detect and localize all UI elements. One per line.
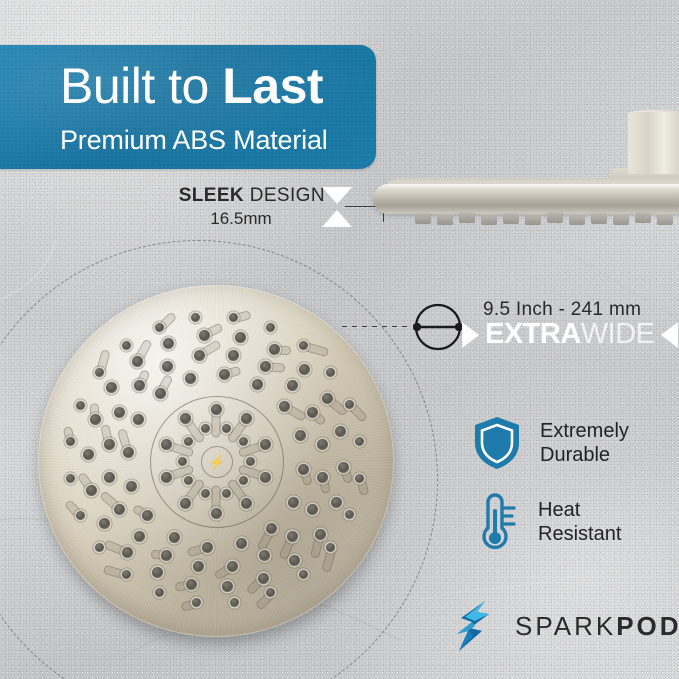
bowtie-lower-triangle (322, 210, 352, 227)
nozzle (155, 588, 164, 597)
nozzle (104, 472, 115, 483)
sleek-design-label: SLEEK DESIGN (165, 185, 325, 207)
nozzle (122, 341, 131, 350)
inner-nozzle (239, 437, 248, 446)
nozzle (326, 368, 335, 377)
diameter-icon (413, 302, 463, 352)
nozzle (90, 414, 101, 425)
diameter-leader-line (342, 326, 412, 327)
nozzle (219, 369, 230, 380)
nozzle (279, 401, 290, 412)
nozzle (222, 581, 233, 592)
nozzle (76, 401, 85, 410)
inner-nozzle (260, 472, 271, 483)
inner-nozzle (201, 489, 210, 498)
nozzle (266, 523, 277, 534)
nozzle (295, 430, 306, 441)
nozzle (258, 573, 269, 584)
nozzle (126, 481, 137, 492)
nozzle (259, 550, 270, 561)
nozzle (66, 437, 75, 446)
nozzle (235, 332, 246, 343)
extra-wide-callout: EXTRAWIDE (462, 320, 678, 349)
nozzle (132, 356, 143, 367)
nozzle (114, 407, 125, 418)
nozzle (335, 426, 346, 437)
nozzle (162, 361, 173, 372)
right-arrow-icon (661, 322, 678, 348)
nozzle (186, 579, 197, 590)
bowtie-upper-triangle (322, 187, 352, 204)
nozzle (227, 561, 238, 572)
inner-nozzle (161, 472, 172, 483)
nozzle (287, 531, 298, 542)
nozzle (317, 439, 328, 450)
nozzle (289, 555, 300, 566)
nozzle (322, 393, 333, 404)
nozzle (123, 447, 134, 458)
inner-nozzle (178, 457, 187, 466)
nozzle (122, 570, 131, 579)
feature-label: Heat Resistant (538, 498, 621, 547)
nozzle (236, 538, 247, 549)
nozzle (192, 598, 201, 607)
showerhead-front-face: ⚡ (38, 285, 398, 645)
inner-nozzle (222, 489, 231, 498)
showerhead-edge (373, 184, 679, 214)
inner-nozzle (211, 404, 222, 415)
nozzle (134, 380, 145, 391)
nozzle (299, 570, 308, 579)
nozzle (194, 350, 205, 361)
headline-banner: Built to Last Premium ABS Material (0, 45, 376, 169)
product-infographic: Built to Last Premium ABS Material SLEEK… (0, 0, 679, 679)
nozzle (345, 510, 354, 519)
nozzle (106, 382, 117, 393)
nozzle (269, 344, 280, 355)
nozzle (83, 449, 94, 460)
shield-icon (472, 415, 522, 471)
nozzle (104, 439, 115, 450)
nozzle (315, 529, 326, 540)
nozzle (122, 547, 133, 558)
nozzle (86, 485, 97, 496)
nozzle (155, 323, 164, 332)
nozzle (169, 532, 180, 543)
inner-nozzle (180, 498, 191, 509)
nozzle (266, 323, 275, 332)
swivel-connector (628, 112, 679, 174)
nozzle (288, 497, 299, 508)
showerhead-disc: ⚡ (38, 285, 394, 637)
thickness-bowtie-icon (322, 187, 352, 227)
nozzle (66, 474, 75, 483)
nozzle (191, 313, 200, 322)
sleek-design-measurement: 16.5mm (165, 209, 325, 229)
inner-nozzle (241, 498, 252, 509)
nozzle (331, 497, 342, 508)
nozzle (202, 542, 213, 553)
banner-subheadline: Premium ABS Material (60, 125, 328, 156)
nozzle (252, 379, 263, 390)
nozzle (161, 550, 172, 561)
nozzle (185, 373, 196, 384)
nozzle (287, 380, 298, 391)
brand-name: SPARKPOD® (515, 611, 679, 642)
nozzle (152, 567, 163, 578)
nozzle (260, 361, 271, 372)
nozzle (163, 338, 174, 349)
feature-label: Extremely Durable (540, 419, 629, 468)
banner-headline: Built to Last (60, 61, 323, 111)
feature-heat-resistant: Heat Resistant (474, 492, 621, 552)
center-logo-mark: ⚡ (201, 446, 233, 478)
lightning-bolt-icon (455, 600, 501, 652)
extra-wide-label: EXTRAWIDE (485, 320, 655, 349)
nozzle (133, 414, 144, 425)
nozzle (155, 388, 166, 399)
nozzle (299, 364, 310, 375)
nozzle (95, 368, 104, 377)
left-arrow-icon (462, 322, 479, 348)
thermometer-icon (474, 492, 520, 552)
side-nozzle-row (415, 212, 679, 226)
inner-nozzle (246, 457, 255, 466)
nozzle (266, 588, 275, 597)
nozzle (193, 561, 204, 572)
brand-logo: SPARKPOD® (455, 600, 679, 652)
nozzle (134, 531, 145, 542)
inner-nozzle (211, 508, 222, 519)
nozzle (76, 511, 85, 520)
sleek-design-callout: SLEEK DESIGN 16.5mm (165, 185, 325, 229)
feature-extremely-durable: Extremely Durable (472, 415, 629, 471)
nozzle (114, 504, 125, 515)
nozzle (95, 543, 104, 552)
nozzle (99, 518, 110, 529)
nozzle (355, 437, 364, 446)
nozzle (199, 330, 210, 341)
inner-nozzle (184, 437, 193, 446)
showerhead-side-profile (355, 172, 679, 234)
nozzle (230, 598, 239, 607)
nozzle (307, 504, 318, 515)
nozzle (142, 510, 153, 521)
nozzle (228, 350, 239, 361)
